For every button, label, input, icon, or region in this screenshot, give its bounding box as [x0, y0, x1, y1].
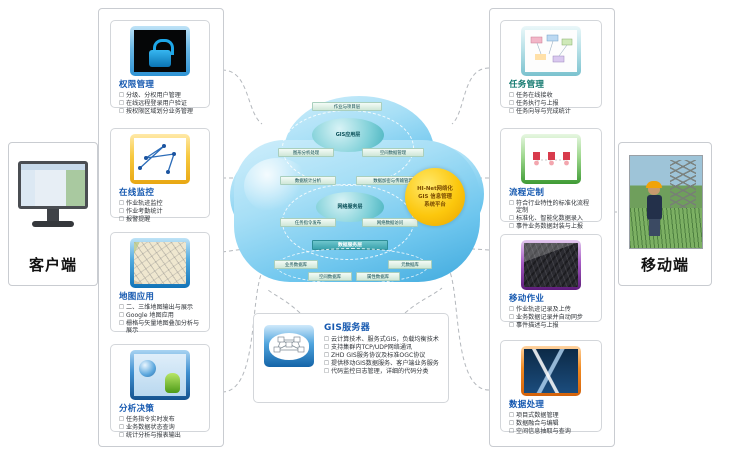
mobile-work-icon: [521, 240, 581, 290]
module-card-online-monitor[interactable]: 在线监控 作业轨迹监控 作业考勤统计 报警提醒: [110, 128, 210, 218]
list-item: 支持集群内TCP/UDP网络通讯: [324, 344, 442, 352]
platform-badge: HI-Net网络化 GIS 信息管理 系统平台: [405, 168, 465, 226]
module-title: 分析决策: [119, 402, 203, 414]
client-label: 客户端: [9, 254, 97, 275]
data-process-icon: [521, 346, 581, 396]
list-item: 在线远程登录用户验证: [119, 100, 203, 107]
cloud-layer-gis-application: GIS应用层: [312, 118, 384, 152]
client-endpoint[interactable]: 客户端: [8, 142, 98, 286]
module-title: 移动作业: [509, 292, 595, 304]
list-item: 二、三维地图输出与展示: [119, 304, 203, 311]
cloud-node-network-access: 网络数据访问: [362, 218, 418, 227]
cloud-node-spatial-data: 空间数据管理: [362, 148, 424, 157]
cloud-node-db-spatial: 空间数据库: [308, 272, 352, 281]
badge-line-2: GIS 信息管理: [417, 193, 453, 201]
analysis-icon: [130, 350, 190, 400]
module-card-analysis-decision[interactable]: 分析决策 任务指令实时发布 业务数据状态查询 统计分析与报表输出: [110, 344, 210, 432]
list-item: 任务执行与上报: [509, 100, 595, 107]
module-card-task-management[interactable]: 任务管理 任务在线接收 任务执行与上报 任务向导与完成统计: [500, 20, 602, 108]
cloud-node-db-metadata: 元数据库: [388, 260, 432, 269]
module-card-data-processing[interactable]: 数据处理 项目式数据管理 数据融合与编辑 空间信息抽取与查询: [500, 340, 602, 432]
gis-server-title: GIS服务器: [324, 320, 442, 333]
list-item: 云计算技术、服务式GIS，负载均衡技术: [324, 336, 442, 344]
list-item: 作业考勤统计: [119, 208, 203, 215]
list-item: Google 地图应用: [119, 312, 203, 319]
cloud-node-statistics: 数据统计分析: [280, 176, 336, 185]
module-title: 流程定制: [509, 186, 595, 198]
list-item: 符合行业特性的标准化流程定制: [509, 200, 595, 215]
list-item: 作业轨迹记录及上传: [509, 306, 595, 313]
module-feature-list: 项目式数据管理 数据融合与编辑 空间信息抽取与查询: [507, 412, 595, 435]
list-item: 业务数据记录并自动同步: [509, 314, 595, 321]
module-card-mobile-operation[interactable]: 移动作业 作业轨迹记录及上传 业务数据记录并自动同步 事件描述与上报: [500, 234, 602, 322]
list-item: ZHD GIS服务协议及标准OGC协议: [324, 352, 442, 360]
list-item: 代码监控日志管理，详细的代码分类: [324, 368, 442, 376]
module-title: 数据处理: [509, 398, 595, 410]
module-card-permission[interactable]: 权限管理 分级、分权用户管理 在线远程登录用户验证 按权限区域划分业务管理: [110, 20, 210, 108]
list-item: 事件描述与上报: [509, 322, 595, 329]
track-graph-icon: [130, 134, 190, 184]
module-card-map-application[interactable]: 地图应用 二、三维地图输出与展示 Google 地图应用 栅格与矢量地图叠加分析…: [110, 232, 210, 332]
cloud-network-icon: [264, 325, 314, 367]
map-icon: [130, 238, 190, 288]
mobile-endpoint[interactable]: 移动端: [618, 142, 712, 286]
module-feature-list: 作业轨迹记录及上传 业务数据记录并自动同步 事件描述与上报: [507, 306, 595, 329]
list-item: 空间信息抽取与查询: [509, 428, 595, 435]
cloud-node-task-publish: 任务指令发布: [280, 218, 336, 227]
architecture-diagram: 权限管理 分级、分权用户管理 在线远程登录用户验证 按权限区域划分业务管理 在线…: [0, 0, 733, 452]
field-worker-photo: [629, 155, 703, 249]
gis-server-feature-list: 云计算技术、服务式GIS，负载均衡技术 支持集群内TCP/UDP网络通讯 ZHD…: [322, 336, 442, 376]
task-board-icon: [521, 26, 581, 76]
list-item: 任务指令实时发布: [119, 416, 203, 423]
module-feature-list: 二、三维地图输出与展示 Google 地图应用 栅格与矢量地图叠加分析与展示: [117, 304, 203, 335]
list-item: 统计分析与报表输出: [119, 432, 203, 439]
list-item: 任务向导与完成统计: [509, 108, 595, 115]
module-card-process-customization[interactable]: 流程定制 符合行业特性的标准化流程定制 标准化、智能化数据录入 事件业务数据封装…: [500, 128, 602, 222]
module-feature-list: 分级、分权用户管理 在线远程登录用户验证 按权限区域划分业务管理: [117, 92, 203, 115]
list-item: 报警提醒: [119, 216, 203, 223]
cloud-node-top: 作业与项目层: [312, 102, 382, 111]
list-item: 任务在线接收: [509, 92, 595, 99]
list-item: 数据融合与编辑: [509, 420, 595, 427]
list-item: 业务数据状态查询: [119, 424, 203, 431]
list-item: 作业轨迹监控: [119, 200, 203, 207]
list-item: 提供移动GIS数据服务、客户端业务服务: [324, 360, 442, 368]
module-feature-list: 符合行业特性的标准化流程定制 标准化、智能化数据录入 事件业务数据封装与上报: [507, 200, 595, 231]
module-feature-list: 任务在线接收 任务执行与上报 任务向导与完成统计: [507, 92, 595, 115]
list-item: 分级、分权用户管理: [119, 92, 203, 99]
list-item: 标准化、智能化数据录入: [509, 215, 595, 222]
cloud-node-db-business: 业务数据库: [274, 260, 318, 269]
desktop-monitor-icon: [18, 161, 88, 233]
list-item: 按权限区域划分业务管理: [119, 108, 203, 115]
flow-icon: [521, 134, 581, 184]
lock-icon: [130, 26, 190, 76]
gis-server-card[interactable]: GIS服务器 云计算技术、服务式GIS，负载均衡技术 支持集群内TCP/UDP网…: [253, 313, 449, 403]
list-item: 栅格与矢量地图叠加分析与展示: [119, 320, 203, 335]
module-title: 在线监控: [119, 186, 203, 198]
mobile-label: 移动端: [619, 254, 711, 275]
list-item: 项目式数据管理: [509, 412, 595, 419]
cloud-node-graphic-analysis: 图形分析处理: [278, 148, 334, 157]
cloud-node-db-attribute: 属性数据库: [356, 272, 400, 281]
module-feature-list: 作业轨迹监控 作业考勤统计 报警提醒: [117, 200, 203, 223]
module-feature-list: 任务指令实时发布 业务数据状态查询 统计分析与报表输出: [117, 416, 203, 439]
badge-line-1: HI-Net网络化: [417, 185, 453, 193]
list-item: 事件业务数据封装与上报: [509, 223, 595, 230]
badge-line-3: 系统平台: [417, 201, 453, 209]
module-title: 权限管理: [119, 78, 203, 90]
module-title: 地图应用: [119, 290, 203, 302]
module-title: 任务管理: [509, 78, 595, 90]
